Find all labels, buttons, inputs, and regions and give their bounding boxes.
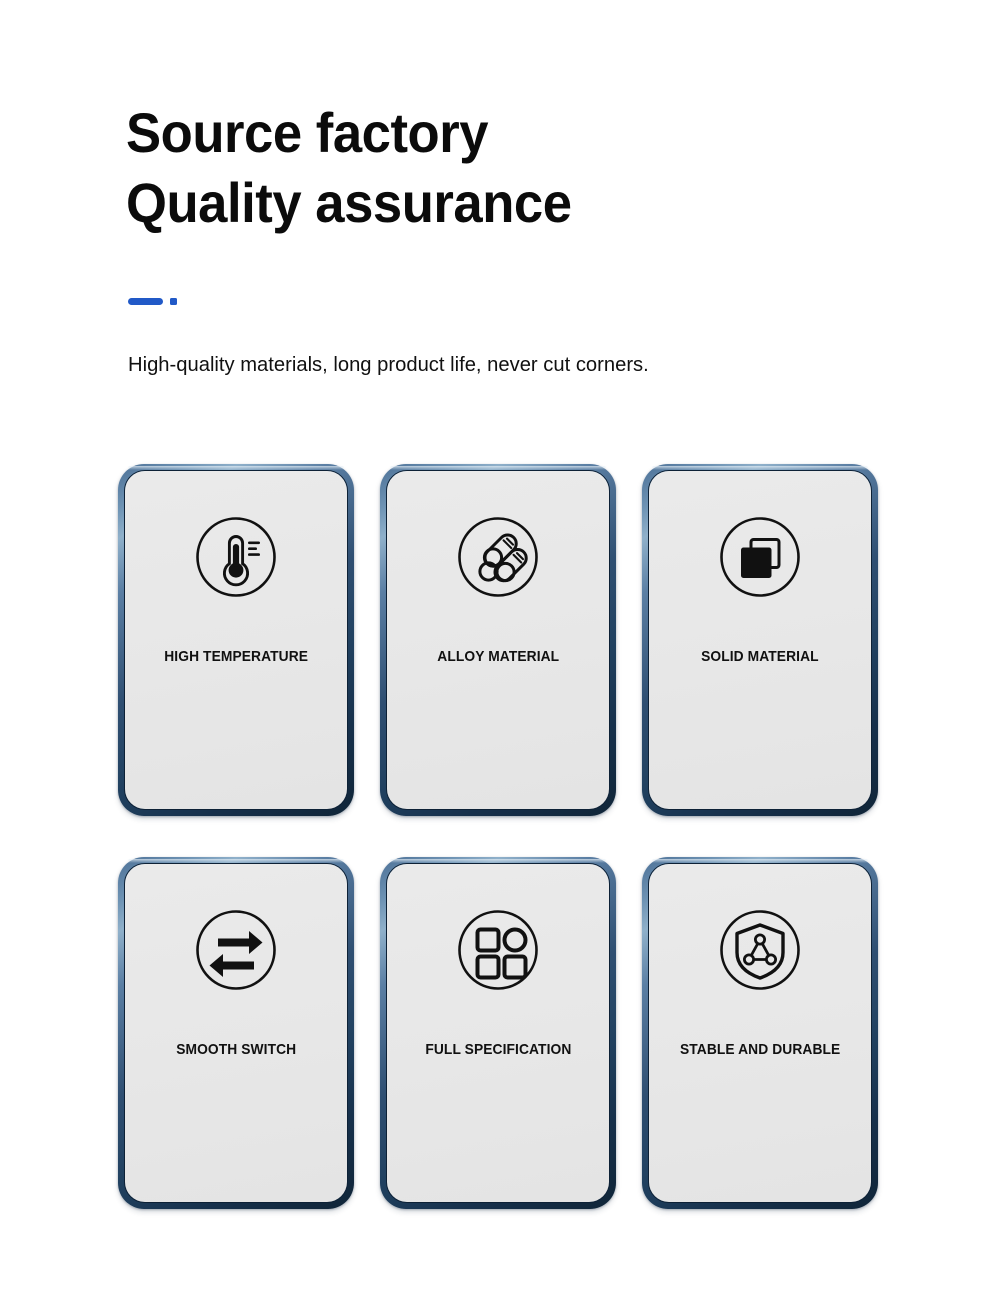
thermometer-icon <box>194 515 278 599</box>
feature-card-label: FULL SPECIFICATION <box>425 1041 571 1058</box>
metal-bars-icon <box>456 515 540 599</box>
feature-card-label: HIGH TEMPERATURE <box>164 648 308 665</box>
feature-card-inner: SOLID MATERIAL <box>649 471 871 809</box>
grid-shapes-icon <box>456 908 540 992</box>
feature-card-full-specification[interactable]: FULL SPECIFICATION <box>380 857 616 1209</box>
page-title-line-1: Source factory <box>126 98 878 168</box>
divider-dash-icon <box>128 298 163 305</box>
feature-card-solid-material[interactable]: SOLID MATERIAL <box>642 464 878 816</box>
feature-card-high-temperature[interactable]: HIGH TEMPERATURE <box>118 464 354 816</box>
stacked-squares-icon <box>718 515 802 599</box>
feature-card-inner: HIGH TEMPERATURE <box>125 471 347 809</box>
two-way-arrows-icon <box>194 908 278 992</box>
feature-card-stable-and-durable[interactable]: STABLE AND DURABLE <box>642 857 878 1209</box>
shield-network-icon <box>718 908 802 992</box>
accent-divider <box>128 298 177 305</box>
page-heading: Source factory Quality assurance <box>126 98 926 238</box>
promo-banner-page: Source factory Quality assurance High-qu… <box>0 0 1000 1314</box>
divider-dot-icon <box>170 298 177 305</box>
feature-card-grid: HIGH TEMPERATURE <box>118 464 882 1209</box>
page-subtitle: High-quality materials, long product lif… <box>128 351 649 379</box>
feature-card-inner: ALLOY MATERIAL <box>387 471 609 809</box>
feature-card-alloy-material[interactable]: ALLOY MATERIAL <box>380 464 616 816</box>
page-title-line-2: Quality assurance <box>126 168 878 238</box>
feature-card-inner: FULL SPECIFICATION <box>387 864 609 1202</box>
feature-card-label: SOLID MATERIAL <box>701 648 819 665</box>
feature-card-inner: STABLE AND DURABLE <box>649 864 871 1202</box>
feature-card-inner: SMOOTH SWITCH <box>125 864 347 1202</box>
feature-card-smooth-switch[interactable]: SMOOTH SWITCH <box>118 857 354 1209</box>
feature-card-label: ALLOY MATERIAL <box>437 648 559 665</box>
feature-card-label: STABLE AND DURABLE <box>680 1041 840 1058</box>
feature-card-label: SMOOTH SWITCH <box>176 1041 296 1058</box>
